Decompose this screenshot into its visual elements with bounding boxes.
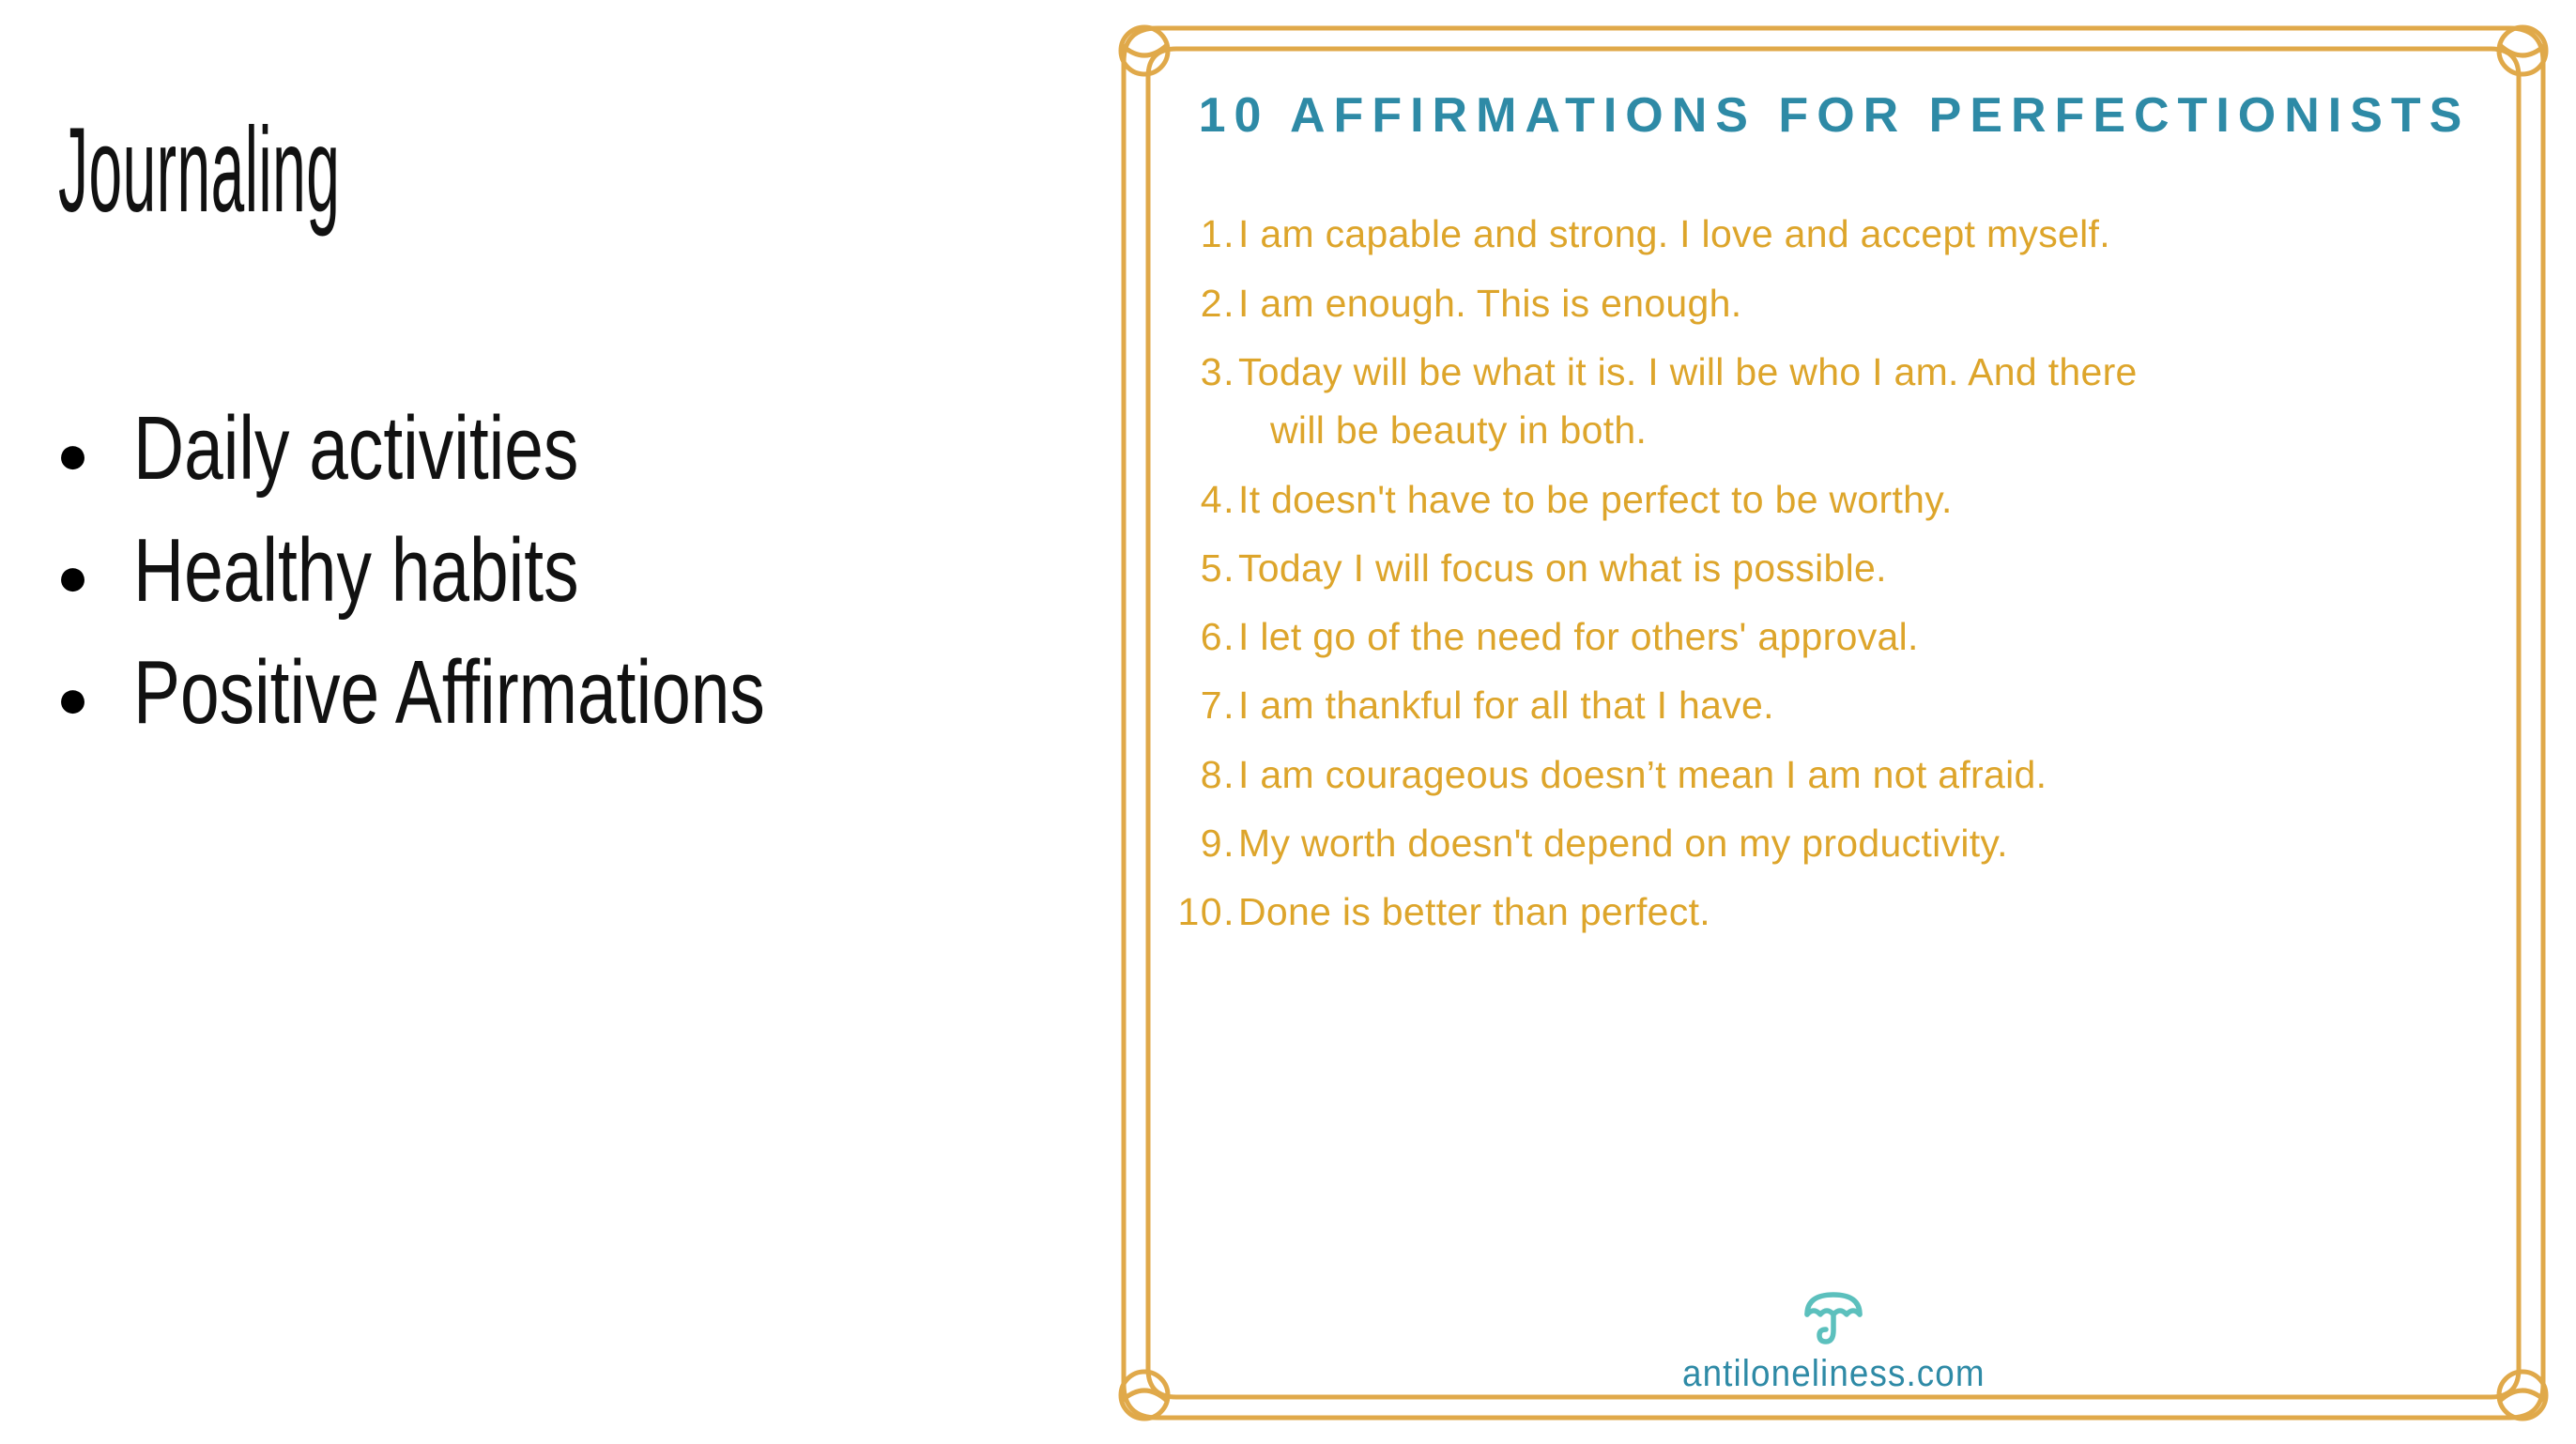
affirmation-number: 1. bbox=[1158, 209, 1238, 259]
affirmation-item: 8. I am courageous doesn’t mean I am not… bbox=[1158, 750, 2522, 800]
card-footer: antiloneliness.com bbox=[1103, 1289, 2564, 1395]
affirmation-item: 6. I let go of the need for others' appr… bbox=[1158, 612, 2522, 662]
affirmation-text: It doesn't have to be perfect to be wort… bbox=[1238, 475, 2522, 525]
affirmation-list: 1. I am capable and strong. I love and a… bbox=[1146, 209, 2522, 937]
footer-domain-label: antiloneliness.com bbox=[1682, 1353, 1986, 1395]
affirmation-text: I let go of the need for others' approva… bbox=[1238, 612, 2522, 662]
bullet-dot-icon: ● bbox=[56, 550, 94, 605]
affirmation-text: I am enough. This is enough. bbox=[1238, 279, 2522, 329]
left-content-panel: Journaling ● Daily activities ● Healthy … bbox=[0, 0, 1089, 1444]
affirmation-item: 2. I am enough. This is enough. bbox=[1158, 279, 2522, 329]
affirmation-item: 10. Done is better than perfect. bbox=[1158, 887, 2522, 937]
list-item: ● Healthy habits bbox=[56, 524, 1070, 646]
affirmation-text: My worth doesn't depend on my productivi… bbox=[1238, 819, 2522, 868]
affirmation-number: 6. bbox=[1158, 612, 1238, 662]
affirmation-number: 8. bbox=[1158, 750, 1238, 800]
affirmation-item: 4. It doesn't have to be perfect to be w… bbox=[1158, 475, 2522, 525]
affirmation-text-line2: will be beauty in both. bbox=[1238, 406, 2522, 455]
topic-bullet-list: ● Daily activities ● Healthy habits ● Po… bbox=[56, 402, 1070, 768]
affirmation-item: 7. I am thankful for all that I have. bbox=[1158, 681, 2522, 730]
card-content: 10 Affirmations for Perfectionists 1. I … bbox=[1146, 36, 2522, 1406]
affirmation-number: 9. bbox=[1158, 819, 1238, 868]
affirmation-text: I am thankful for all that I have. bbox=[1238, 681, 2522, 730]
affirmation-number: 4. bbox=[1158, 475, 1238, 525]
affirmation-item: 5. Today I will focus on what is possibl… bbox=[1158, 544, 2522, 593]
list-item-label: Positive Affirmations bbox=[133, 646, 765, 741]
affirmation-text: I am capable and strong. I love and acce… bbox=[1238, 209, 2522, 259]
umbrella-icon bbox=[1800, 1289, 1867, 1347]
list-item-label: Healthy habits bbox=[133, 524, 579, 619]
affirmation-text: Today will be what it is. I will be who … bbox=[1238, 347, 2522, 456]
bullet-dot-icon: ● bbox=[56, 672, 94, 727]
affirmation-text: I am courageous doesn’t mean I am not af… bbox=[1238, 750, 2522, 800]
list-item: ● Positive Affirmations bbox=[56, 646, 1070, 768]
affirmation-number: 3. bbox=[1158, 347, 1238, 397]
bullet-dot-icon: ● bbox=[56, 428, 94, 483]
card-title: 10 Affirmations for Perfectionists bbox=[1146, 81, 2522, 151]
affirmation-item: 1. I am capable and strong. I love and a… bbox=[1158, 209, 2522, 259]
affirmation-text: Done is better than perfect. bbox=[1238, 887, 2522, 937]
affirmation-number: 10. bbox=[1158, 887, 1238, 937]
list-item: ● Daily activities bbox=[56, 402, 1070, 524]
affirmation-text: Today I will focus on what is possible. bbox=[1238, 544, 2522, 593]
page-title: Journaling bbox=[58, 111, 340, 231]
affirmation-number: 2. bbox=[1158, 279, 1238, 329]
affirmation-number: 7. bbox=[1158, 681, 1238, 730]
affirmation-number: 5. bbox=[1158, 544, 1238, 593]
affirmation-item: 9. My worth doesn't depend on my product… bbox=[1158, 819, 2522, 868]
affirmation-item: 3. Today will be what it is. I will be w… bbox=[1158, 347, 2522, 456]
affirmation-text-line1: Today will be what it is. I will be who … bbox=[1238, 350, 2138, 393]
affirmations-card: 10 Affirmations for Perfectionists 1. I … bbox=[1103, 8, 2564, 1438]
list-item-label: Daily activities bbox=[133, 402, 578, 497]
